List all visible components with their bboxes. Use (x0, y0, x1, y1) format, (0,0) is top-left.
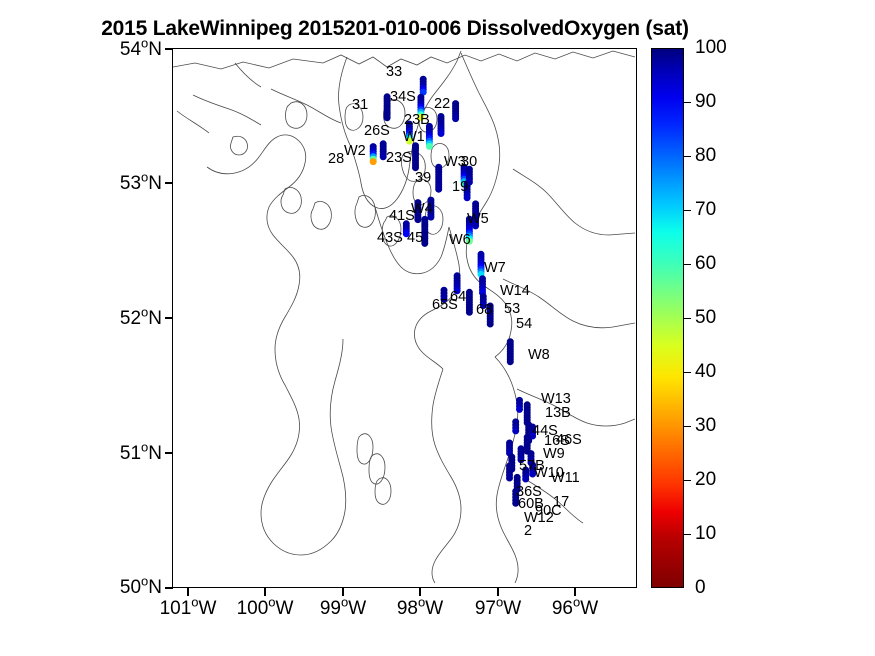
colorbar-tick-50 (684, 318, 691, 319)
colorbar-gradient (652, 49, 683, 587)
colorbar-label-40: 40 (695, 361, 716, 383)
colorbar-tick-10 (684, 534, 691, 535)
station-label-33: 33 (386, 65, 402, 80)
chart-title: 2015 LakeWinnipeg 2015201-010-006 Dissol… (0, 17, 790, 41)
station-label-45: 45 (407, 231, 423, 246)
station-marker (506, 463, 513, 482)
colorbar-tick-90 (684, 102, 691, 103)
colorbar-label-100: 100 (695, 37, 727, 59)
station-label-65S: 65S (432, 298, 458, 313)
figure-root: 2015 LakeWinnipeg 2015201-010-006 Dissol… (0, 0, 875, 656)
ytick-54 (165, 48, 173, 50)
colorbar-label-70: 70 (695, 199, 716, 221)
station-label-13B: 13B (545, 406, 571, 421)
station-label-30: 30 (461, 155, 477, 170)
colorbar-label-30: 30 (695, 415, 716, 437)
colorbar-label-20: 20 (695, 469, 716, 491)
station-label-W5: W5 (467, 212, 489, 227)
station-label-39: 39 (415, 171, 431, 186)
station-marker (412, 142, 419, 171)
station-label-W2: W2 (344, 144, 366, 159)
station-label-23S: 23S (386, 151, 412, 166)
ytick-52 (165, 317, 173, 319)
ytick-53 (165, 182, 173, 184)
colorbar-label-0: 0 (695, 577, 706, 599)
colorbar (651, 48, 684, 588)
station-label-43S: 43S (377, 231, 403, 246)
station-marker (435, 164, 442, 193)
station-label-W1: W1 (403, 130, 425, 145)
ytick-50 (165, 587, 173, 589)
colorbar-tick-20 (684, 480, 691, 481)
station-label-W7: W7 (484, 261, 506, 276)
ytick-label-0: 54oN (72, 39, 162, 61)
station-label-23B: 23B (404, 113, 430, 128)
station-label-W9: W9 (543, 447, 565, 462)
colorbar-label-10: 10 (695, 523, 716, 545)
station-marker (438, 113, 445, 137)
station-label-19: 19 (452, 180, 468, 195)
station-label-22: 22 (434, 97, 450, 112)
station-label-68: 68 (476, 303, 492, 318)
ytick-51 (165, 452, 173, 454)
station-label-31: 31 (352, 98, 368, 113)
xtick-label-5: 96oW (527, 598, 623, 620)
colorbar-label-90: 90 (695, 91, 716, 113)
station-label-34S: 34S (390, 90, 416, 105)
station-label-W6: W6 (449, 233, 471, 248)
station-label-26S: 26S (364, 124, 390, 139)
xtick-100w (264, 588, 266, 596)
station-marker (420, 76, 427, 96)
colorbar-tick-60 (684, 264, 691, 265)
ytick-label-1: 53oN (72, 173, 162, 195)
station-label-2: 2 (524, 524, 532, 539)
ytick-label-4: 50oN (72, 577, 162, 599)
station-marker (516, 397, 523, 413)
station-marker (370, 143, 377, 165)
station-label-W4: W4 (411, 202, 433, 217)
colorbar-label-80: 80 (695, 145, 716, 167)
colorbar-tick-70 (684, 210, 691, 211)
ytick-label-3: 51oN (72, 443, 162, 465)
ytick-label-2: 52oN (72, 308, 162, 330)
colorbar-tick-30 (684, 426, 691, 427)
station-label-W8: W8 (528, 348, 550, 363)
xtick-101w (187, 588, 189, 596)
station-marker (452, 100, 459, 122)
colorbar-tick-80 (684, 156, 691, 157)
station-label-54: 54 (516, 317, 532, 332)
station-label-W11: W11 (551, 471, 580, 486)
station-label-28: 28 (328, 152, 344, 167)
station-label-53: 53 (504, 302, 520, 317)
station-marker (507, 338, 514, 365)
colorbar-label-50: 50 (695, 307, 716, 329)
station-marker (466, 289, 473, 316)
colorbar-label-60: 60 (695, 253, 716, 275)
station-marker (512, 418, 519, 434)
colorbar-tick-40 (684, 372, 691, 373)
station-label-W14: W14 (500, 284, 530, 299)
